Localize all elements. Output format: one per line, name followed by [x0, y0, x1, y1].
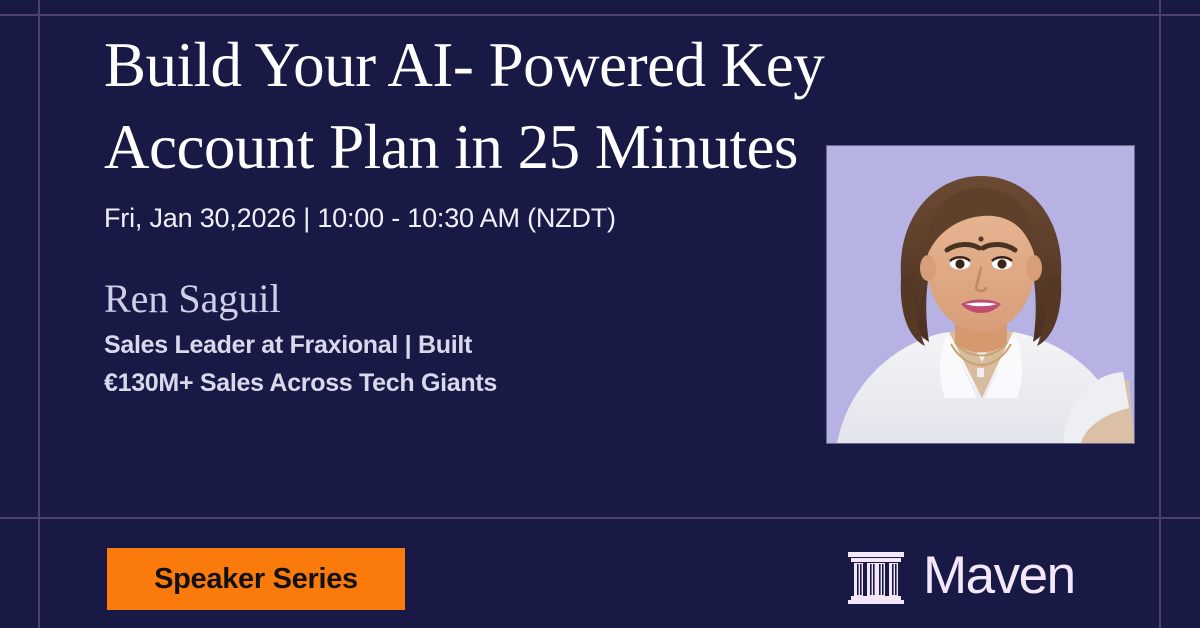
maven-wordmark: Maven: [923, 549, 1075, 602]
speaker-series-badge-label: Speaker Series: [154, 565, 358, 594]
event-info-column: Build Your AI- Powered Key Account Plan …: [104, 24, 844, 402]
speaker-portrait-illustration: [827, 146, 1134, 443]
maven-logo[interactable]: Maven: [845, 544, 1075, 606]
event-promo-card: Build Your AI- Powered Key Account Plan …: [0, 0, 1200, 628]
event-title: Build Your AI- Powered Key Account Plan …: [104, 24, 834, 188]
speaker-block: Ren Saguil Sales Leader at Fraxional | B…: [104, 276, 844, 402]
speaker-name: Ren Saguil: [104, 276, 844, 322]
speaker-photo: [827, 146, 1134, 443]
speaker-bio: Sales Leader at Fraxional | Built €130M+…: [104, 326, 524, 402]
speaker-series-badge[interactable]: Speaker Series: [107, 548, 405, 610]
temple-columns-icon: [845, 544, 907, 606]
event-datetime: Fri, Jan 30,2026 | 10:00 - 10:30 AM (NZD…: [104, 202, 844, 234]
